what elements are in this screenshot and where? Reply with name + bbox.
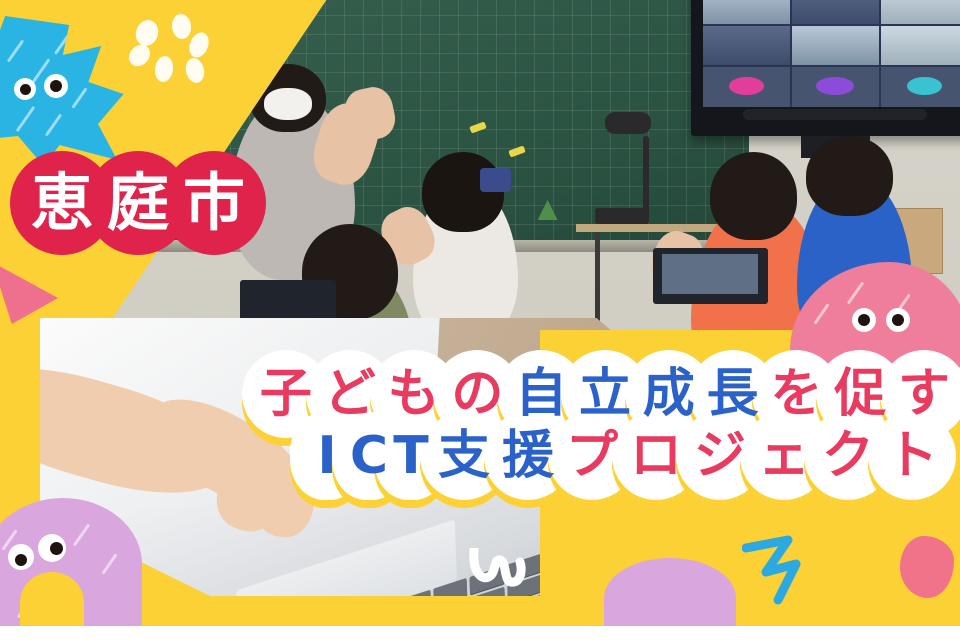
city-badge-char: 市 <box>170 150 258 256</box>
blue-blob-eye-right <box>44 74 68 98</box>
title-char-glyph: ジ <box>694 430 746 482</box>
city-badge-char: 庭 <box>94 150 182 256</box>
title-char-glyph: T <box>393 430 428 482</box>
title-char: ク <box>812 418 884 494</box>
title-line-1: 子どもの自立成長を促す <box>250 356 952 432</box>
white-squiggle-doodle <box>468 548 534 594</box>
title-char: T <box>386 418 436 494</box>
title-char-glyph: を <box>770 368 822 420</box>
title-char: 立 <box>569 356 641 432</box>
video-conference-monitor <box>691 0 960 136</box>
title-char-glyph: ト <box>886 430 938 482</box>
purple-blob-eye-left <box>8 544 34 570</box>
purple-blob-eye-right <box>38 534 66 562</box>
pink-blob-eye-left <box>852 308 876 332</box>
title-char-glyph: ェ <box>758 430 810 482</box>
main-title: 子どもの自立成長を促す ICT支援プロジェクト <box>232 356 952 494</box>
city-badge-char: 恵 <box>18 150 106 256</box>
title-char: 援 <box>492 418 564 494</box>
title-char: 子 <box>250 356 322 432</box>
city-badge: 恵 庭 市 <box>18 150 246 256</box>
title-char: 長 <box>697 356 769 432</box>
title-char: ロ <box>620 418 692 494</box>
title-char: ジ <box>684 418 756 494</box>
title-char: を <box>761 356 833 432</box>
title-char-glyph: 援 <box>502 430 554 482</box>
pink-blob-eye-right <box>886 308 910 332</box>
title-char-glyph: の <box>451 368 503 420</box>
title-char-glyph: C <box>350 430 388 482</box>
title-char-glyph: す <box>898 368 950 420</box>
title-char: 促 <box>824 356 896 432</box>
title-char: す <box>888 356 960 432</box>
title-char-glyph: も <box>388 368 440 420</box>
title-char: ェ <box>748 418 820 494</box>
title-char: 支 <box>428 418 500 494</box>
banner-root: 恵 庭 市 子どもの自立成長を促す ICT支援プロジェクト <box>0 0 960 640</box>
title-char: 成 <box>633 356 705 432</box>
title-char-glyph: 促 <box>834 368 886 420</box>
title-char-glyph: ク <box>822 430 874 482</box>
title-line-2: ICT支援プロジェクト <box>302 418 952 494</box>
title-char-glyph: プ <box>566 430 618 482</box>
title-char-glyph: 自 <box>515 368 567 420</box>
blue-blob-eye-left <box>14 78 36 100</box>
title-char-glyph: 長 <box>707 368 759 420</box>
title-char-glyph: 立 <box>579 368 631 420</box>
city-badge-char-1: 恵 <box>31 172 93 234</box>
title-char: も <box>378 356 450 432</box>
blue-zigzag-doodle <box>742 534 834 606</box>
title-char: C <box>344 418 394 494</box>
title-char-glyph: ロ <box>630 430 682 482</box>
city-badge-char-3: 市 <box>183 172 245 234</box>
title-char-glyph: ど <box>324 368 376 420</box>
title-char: の <box>441 356 513 432</box>
title-char: 自 <box>505 356 577 432</box>
title-char-glyph: 子 <box>260 368 312 420</box>
title-char: ど <box>314 356 386 432</box>
city-badge-char-2: 庭 <box>107 172 169 234</box>
title-char: プ <box>556 418 628 494</box>
title-char-glyph: I <box>317 430 336 482</box>
title-char-glyph: 成 <box>643 368 695 420</box>
title-char: ト <box>876 418 948 494</box>
title-char-glyph: 支 <box>438 430 490 482</box>
white-footer-strip <box>0 626 960 640</box>
